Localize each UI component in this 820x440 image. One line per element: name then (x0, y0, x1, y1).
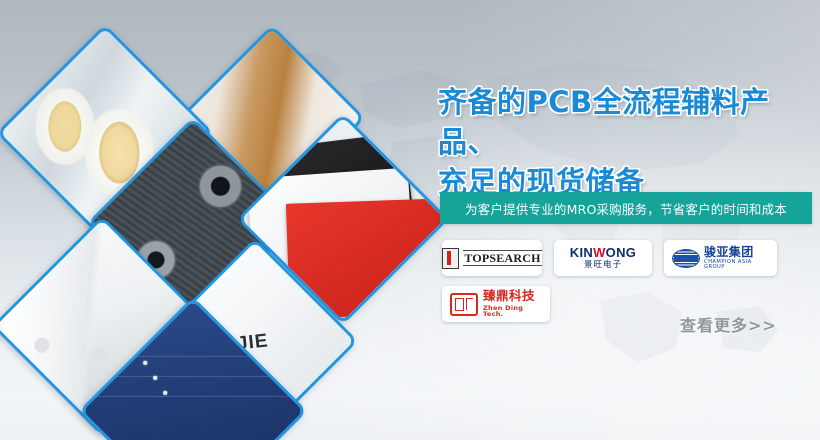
headline: 齐备的PCB全流程辅料产品、 充足的现货储备 (438, 82, 820, 202)
product-collage: JIE (0, 0, 430, 440)
kinwong-label-en-c: ONG (606, 245, 637, 260)
kinwong-label-en-a: KIN (570, 245, 593, 260)
topsearch-mark-icon (442, 248, 459, 269)
headline-line-1: 齐备的PCB全流程辅料产品、 (438, 85, 770, 159)
subtitle-bar: 为客户提供专业的MRO采购服务，节省客户的时间和成本 (440, 192, 812, 224)
champion-asia-label-en: CHAMPION ASIA GROUP (704, 260, 769, 270)
brand-logo-list: TOPSEARCH KINWONG 景旺电子 骏亚集团 CHAMPION ASI… (442, 240, 818, 322)
zhen-ding-label-en: Zhen Ding Tech. (483, 305, 542, 318)
kinwong-mark-icon: W (593, 245, 606, 260)
brand-logo-zhen-ding[interactable]: 臻鼎科技 Zhen Ding Tech. (442, 286, 550, 322)
banner-content: 齐备的PCB全流程辅料产品、 充足的现货储备 为客户提供专业的MRO采购服务，节… (430, 0, 820, 440)
zhen-ding-label-cn: 臻鼎科技 (483, 290, 542, 303)
subtitle-text: 为客户提供专业的MRO采购服务，节省客户的时间和成本 (465, 199, 787, 218)
zhending-mark-icon (450, 293, 478, 316)
view-more-link[interactable]: 查看更多>> (680, 312, 777, 336)
champion-asia-label-cn: 骏亚集团 (704, 246, 769, 258)
kinwong-label-cn: 景旺电子 (570, 261, 636, 270)
kinwong-label-en: KINWONG (570, 246, 636, 259)
globe-icon (672, 249, 700, 268)
brand-logo-kinwong[interactable]: KINWONG 景旺电子 (554, 240, 652, 276)
promo-banner: JIE 齐备的PCB全流程辅料产品、 充足的现货储备 为客户提供专业的MRO采购… (0, 0, 820, 440)
brand-logo-champion-asia[interactable]: 骏亚集团 CHAMPION ASIA GROUP (664, 240, 777, 276)
brand-logo-topsearch[interactable]: TOPSEARCH (442, 240, 542, 276)
topsearch-label: TOPSEARCH (463, 250, 541, 266)
